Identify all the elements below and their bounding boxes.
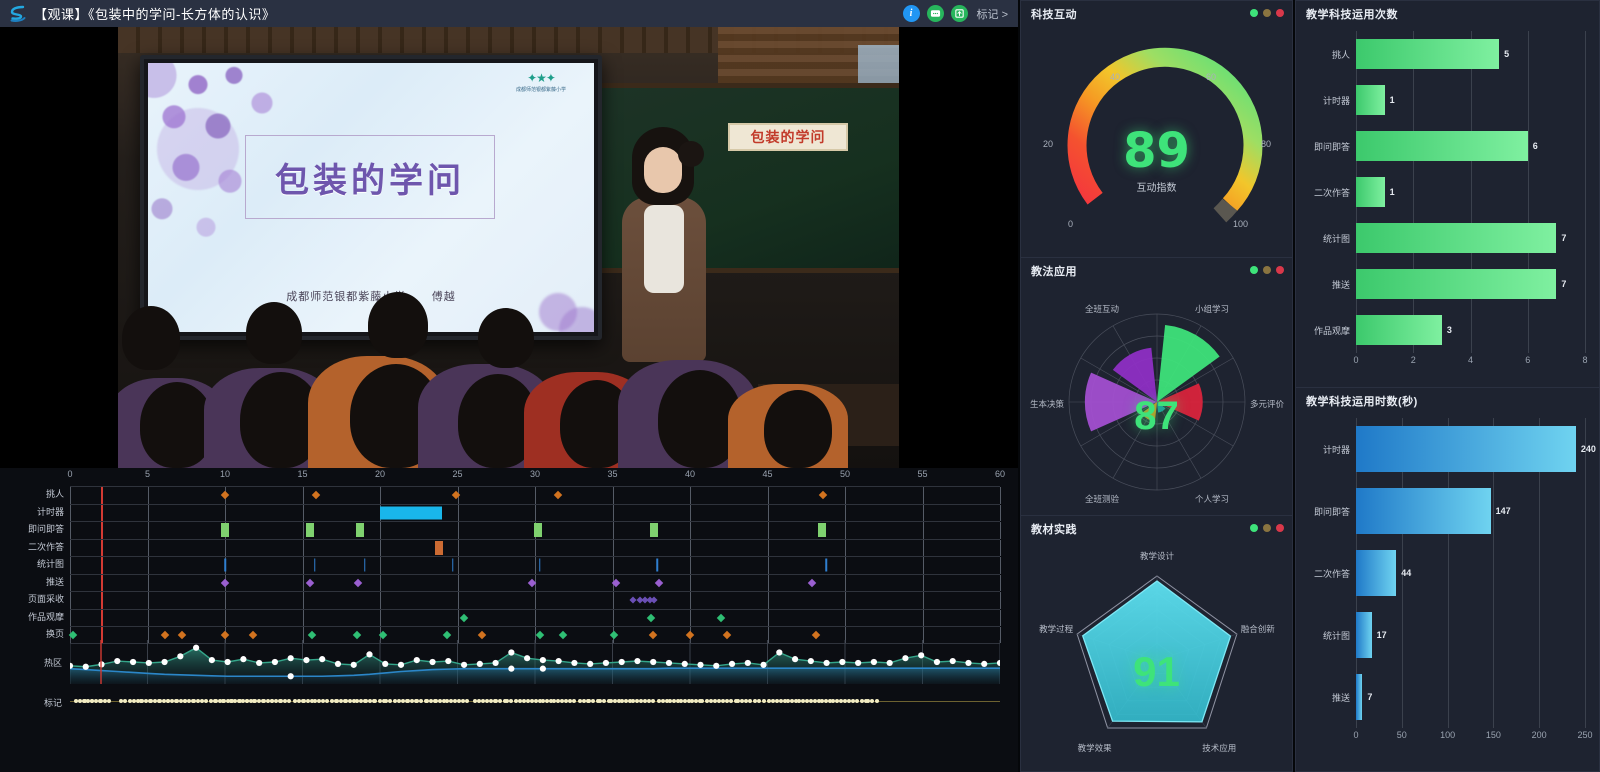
mark-dot[interactable] [651, 699, 655, 703]
timeline-gridline [70, 505, 71, 522]
timeline-gridline [70, 592, 71, 609]
table-row[interactable]: 挑人5 [1304, 31, 1585, 77]
timeline-gridline [225, 540, 226, 557]
bar-label: 即问即答 [1304, 140, 1356, 153]
timeline-event-diamond[interactable] [354, 579, 362, 587]
panel-tech-usage-count: 教学科技运用次数 挑人5计时器1即问即答6二次作答1统计图7推送7作品观摩302… [1295, 0, 1600, 388]
timeline-row[interactable]: 即问即答 [0, 521, 1018, 539]
slide-title: 包装的学问 [275, 153, 465, 202]
timeline-gridline [70, 487, 71, 504]
bar-area: 147 [1356, 480, 1585, 542]
status-dot-red[interactable] [1276, 266, 1284, 274]
timeline-event-diamond[interactable] [554, 491, 562, 499]
bar-gridline [1528, 77, 1529, 123]
timeline-event-diamond[interactable] [811, 631, 819, 639]
timeline-row[interactable]: 页面采收 [0, 591, 1018, 609]
mark-dot[interactable] [572, 699, 576, 703]
bar-axis: 02468 [1304, 353, 1585, 369]
bar-value: 1 [1390, 187, 1395, 197]
timeline-gridline [70, 575, 71, 592]
timeline-row[interactable]: 计时器 [0, 504, 1018, 522]
bar-area: 1 [1356, 77, 1585, 123]
gauge-tick-60: 60 [1206, 72, 1216, 82]
mark-dot[interactable] [107, 699, 111, 703]
axis-tick: 250 [1577, 730, 1592, 740]
bar-gridline [1585, 261, 1586, 307]
bar-gridline [1539, 604, 1540, 666]
timeline-gridline [458, 610, 459, 627]
timeline-gridline [690, 505, 691, 522]
timeline-playhead[interactable] [101, 505, 103, 522]
timeline-tick: 30 [530, 469, 540, 479]
bar-gridline [1585, 77, 1586, 123]
timeline-gridline [303, 610, 304, 627]
dashboard-root: 【观课】《包装中的学问-长方体的认识》 i 标记 > 包装的学问 [0, 0, 1600, 772]
bar-gridline [1471, 169, 1472, 215]
mark-dot[interactable] [875, 699, 879, 703]
gauge-tick-20: 20 [1043, 139, 1053, 149]
panel-title: 科技互动 [1031, 6, 1077, 22]
timeline-gridline [1000, 610, 1001, 627]
timeline-gridline [768, 557, 769, 574]
timeline-gridline [380, 487, 381, 504]
timeline-gridline [458, 557, 459, 574]
timeline-gridline [303, 487, 304, 504]
bar-value: 240 [1581, 444, 1596, 454]
timeline-row[interactable]: 挑人 [0, 486, 1018, 504]
panel-title: 教学科技运用次数 [1306, 6, 1398, 22]
timeline-gridline [303, 522, 304, 539]
timeline-track[interactable] [70, 539, 1000, 557]
timeline-tick: 45 [762, 469, 772, 479]
table-row[interactable]: 二次作答44 [1304, 542, 1585, 604]
timeline-gridline [613, 505, 614, 522]
blackboard-sign: 包装的学问 [728, 123, 848, 151]
timeline-gridline [1000, 557, 1001, 574]
timeline-event-diamond[interactable] [649, 631, 657, 639]
bar[interactable] [1356, 39, 1499, 69]
timeline-playhead[interactable] [101, 592, 103, 609]
rose-body: 87 小组学习多元评价个人学习全班测验生本决策全班互动 [1021, 284, 1292, 514]
timeline-row-label: 页面采收 [2, 592, 64, 605]
timeline-gridline [768, 610, 769, 627]
bar-gridline [1493, 604, 1494, 666]
axis-tick: 100 [1440, 730, 1455, 740]
bar-gridline [1528, 31, 1529, 77]
timeline-gridline [458, 592, 459, 609]
timeline-gridline [923, 540, 924, 557]
rose-axis-label: 全班测验 [1085, 493, 1119, 505]
timeline-gridline [613, 592, 614, 609]
timeline-gridline [768, 592, 769, 609]
status-dot-red[interactable] [1276, 524, 1284, 532]
timeline-gridline [70, 610, 71, 627]
timeline-row-label: 计时器 [2, 505, 64, 518]
left-column: 【观课】《包装中的学问-长方体的认识》 i 标记 > 包装的学问 [0, 0, 1018, 772]
video-frame: 包装的学问 ✦★✦ 成都师范银都紫藤小学 包装的学问 [118, 27, 899, 468]
timeline-row-label: 挑人 [2, 487, 64, 500]
timeline-event-block[interactable] [435, 541, 443, 555]
timeline-event-diamond[interactable] [723, 631, 731, 639]
timeline-gridline [380, 592, 381, 609]
bar-area: 7 [1356, 261, 1585, 307]
bar-gridline [1471, 77, 1472, 123]
panel-title: 教材实践 [1031, 521, 1077, 537]
gauge-label: 互动指数 [1021, 179, 1292, 194]
timeline-tick: 10 [220, 469, 230, 479]
timeline-event-block[interactable] [221, 523, 229, 537]
table-row[interactable]: 统计图17 [1304, 604, 1585, 666]
bar-label: 推送 [1304, 278, 1356, 291]
bar-label: 推送 [1304, 691, 1356, 704]
timeline-gridline [690, 522, 691, 539]
timeline-tick: 50 [840, 469, 850, 479]
bar-value: 7 [1561, 279, 1566, 289]
axis-tick: 200 [1532, 730, 1547, 740]
timeline-track[interactable] [70, 574, 1000, 592]
timeline-event-block[interactable] [818, 523, 826, 537]
timeline-gridline [303, 505, 304, 522]
bar[interactable] [1356, 269, 1556, 299]
bar[interactable] [1356, 315, 1442, 345]
timeline-gridline [923, 592, 924, 609]
gauge-value: 89 [1021, 123, 1292, 179]
bar-area: 17 [1356, 604, 1585, 666]
mark-link[interactable]: 标记 > [977, 6, 1008, 22]
gauge-tick-40: 40 [1110, 72, 1120, 82]
panel-status-dots[interactable] [1250, 9, 1284, 17]
timeline-event-line[interactable] [657, 559, 659, 572]
bar-gridline [1585, 480, 1586, 542]
timeline-tick: 0 [67, 469, 72, 479]
timeline-event-diamond[interactable] [221, 579, 229, 587]
timeline-event-diamond[interactable] [610, 631, 618, 639]
timeline-gridline [923, 557, 924, 574]
bar-gridline [1471, 307, 1472, 353]
mark-dot[interactable] [757, 699, 761, 703]
timeline-event-diamond[interactable] [308, 631, 316, 639]
axis-tick: 0 [1353, 730, 1358, 740]
bar[interactable] [1356, 85, 1385, 115]
timeline-playhead[interactable] [101, 540, 103, 557]
bar-gridline [1413, 169, 1414, 215]
bar-value: 147 [1496, 506, 1511, 516]
timeline-track[interactable] [70, 486, 1000, 504]
timeline-gridline [535, 592, 536, 609]
school-logo: ✦★✦ 成都师范银都紫藤小学 [502, 71, 580, 93]
timeline-event-diamond[interactable] [353, 631, 361, 639]
timeline-row-label: 统计图 [2, 557, 64, 570]
bar-gridline [1528, 169, 1529, 215]
table-row[interactable]: 计时器1 [1304, 77, 1585, 123]
timeline-event-diamond[interactable] [442, 631, 450, 639]
rose-axis-label: 全班互动 [1085, 303, 1119, 315]
timeline-gridline [690, 610, 691, 627]
bar-value: 7 [1561, 233, 1566, 243]
timeline-gridline [613, 557, 614, 574]
timeline-gridline [303, 540, 304, 557]
bar-label: 即问即答 [1304, 505, 1356, 518]
bar[interactable] [1356, 488, 1491, 534]
timeline-gridline [225, 505, 226, 522]
rose-axis-label: 个人学习 [1195, 493, 1229, 505]
timeline-tick: 40 [685, 469, 695, 479]
timeline-event-diamond[interactable] [655, 579, 663, 587]
s-logo-icon [8, 4, 28, 24]
timeline-gridline [768, 505, 769, 522]
bar-area: 5 [1356, 31, 1585, 77]
timeline-tick: 35 [607, 469, 617, 479]
timeline-event-diamond[interactable] [221, 631, 229, 639]
bar-label: 计时器 [1304, 94, 1356, 107]
timeline-event-diamond[interactable] [535, 631, 543, 639]
status-dot-green[interactable] [1250, 9, 1258, 17]
bar-gridline [1585, 169, 1586, 215]
timeline-event-diamond[interactable] [177, 631, 185, 639]
timeline-gridline [225, 610, 226, 627]
bar[interactable] [1356, 550, 1396, 596]
timeline-event-diamond[interactable] [452, 491, 460, 499]
bar-gridline [1539, 480, 1540, 542]
timeline-event-diamond[interactable] [306, 579, 314, 587]
timeline-tick: 55 [917, 469, 927, 479]
timeline-gridline [923, 610, 924, 627]
table-row[interactable]: 统计图7 [1304, 215, 1585, 261]
timeline-event-block[interactable] [306, 523, 314, 537]
timeline-gridline [690, 487, 691, 504]
timeline-row[interactable]: 作品观摩 [0, 609, 1018, 627]
school-logo-text: 成都师范银都紫藤小学 [502, 86, 580, 93]
count-bars[interactable]: 挑人5计时器1即问即答6二次作答1统计图7推送7作品观摩302468 [1304, 31, 1585, 369]
info-icon[interactable]: i [903, 5, 920, 22]
panel-tech-interaction: 科技互动 [1020, 0, 1293, 258]
bar[interactable] [1356, 426, 1576, 472]
timeline-gridline [690, 575, 691, 592]
status-dot-amber[interactable] [1263, 266, 1271, 274]
axis-tick: 150 [1486, 730, 1501, 740]
timeline-event-block[interactable] [534, 523, 542, 537]
timeline-gridline [845, 487, 846, 504]
gauge-body: 89 互动指数 20 0 40 60 80 100 [1021, 27, 1292, 257]
timeline-gridline [148, 610, 149, 627]
status-dot-amber[interactable] [1263, 9, 1271, 17]
timeline-event-diamond[interactable] [647, 614, 655, 622]
panel-header: 科技互动 [1021, 1, 1292, 27]
timeline-event-diamond[interactable] [478, 631, 486, 639]
table-row[interactable]: 作品观摩3 [1304, 307, 1585, 353]
timeline-row[interactable]: 二次作答 [0, 539, 1018, 557]
bar-gridline [1413, 77, 1414, 123]
bar[interactable] [1356, 612, 1372, 658]
bar-gridline [1448, 666, 1449, 728]
timeline-gridline [380, 522, 381, 539]
table-row[interactable]: 即问即答6 [1304, 123, 1585, 169]
timeline-event-line[interactable] [314, 559, 316, 572]
timeline-event-diamond[interactable] [808, 579, 816, 587]
status-dot-green[interactable] [1250, 266, 1258, 274]
bar-area: 6 [1356, 123, 1585, 169]
rose-axis-label: 生本决策 [1030, 398, 1064, 410]
timeline-event-diamond[interactable] [221, 491, 229, 499]
hotzone-chart[interactable] [70, 640, 1000, 684]
bar[interactable] [1356, 674, 1362, 720]
comment-icon[interactable] [927, 5, 944, 22]
status-dot-red[interactable] [1276, 9, 1284, 17]
timeline-gridline [1000, 592, 1001, 609]
panel-status-dots[interactable] [1250, 266, 1284, 274]
timeline-gridline [303, 575, 304, 592]
bar-value: 7 [1367, 692, 1372, 702]
bar-area: 1 [1356, 169, 1585, 215]
panel-tech-usage-seconds: 教学科技运用时数(秒) 计时器240即问即答147二次作答44统计图17推送70… [1295, 388, 1600, 772]
panel-header: 教学科技运用时数(秒) [1296, 388, 1599, 414]
bar[interactable] [1356, 131, 1528, 161]
timeline-gridline [458, 522, 459, 539]
panel-teaching-methods: 教法应用 87 小组学习多元评价个人学习全班测验生本决策全班互动 [1020, 258, 1293, 516]
timeline-row[interactable]: 推送 [0, 574, 1018, 592]
timeline-event-diamond[interactable] [629, 597, 636, 604]
timeline-gridline [148, 540, 149, 557]
right-column: 教学科技运用次数 挑人5计时器1即问即答6二次作答1统计图7推送7作品观摩302… [1295, 0, 1600, 772]
timeline-row-label: 即问即答 [2, 522, 64, 535]
page-title: 【观课】《包装中的学问-长方体的认识》 [34, 4, 275, 23]
panel-status-dots[interactable] [1250, 524, 1284, 532]
timeline-event-line[interactable] [364, 559, 366, 572]
timeline-gridline [768, 575, 769, 592]
bar-label: 作品观摩 [1304, 324, 1356, 337]
timeline-gridline [380, 557, 381, 574]
timeline-gridline [458, 540, 459, 557]
timeline-tick: 60 [995, 469, 1005, 479]
timeline-row-label: 换页 [2, 627, 64, 640]
bar-gridline [1448, 604, 1449, 666]
bar-label: 统计图 [1304, 232, 1356, 245]
table-row[interactable]: 推送7 [1304, 261, 1585, 307]
timeline-event-diamond[interactable] [459, 614, 467, 622]
bar-area: 240 [1356, 418, 1585, 480]
bar-gridline [1585, 307, 1586, 353]
timeline-panel[interactable]: 051015202530354045505560 挑人计时器即问即答二次作答统计… [0, 468, 1018, 772]
timeline-gridline [380, 575, 381, 592]
upload-icon[interactable] [951, 5, 968, 22]
table-row[interactable]: 即问即答147 [1304, 480, 1585, 542]
timeline-event-diamond[interactable] [559, 631, 567, 639]
timeline-event-diamond[interactable] [717, 614, 725, 622]
timeline-gridline [148, 557, 149, 574]
timeline-bottom: 热区 标记 [0, 640, 1018, 720]
timeline-track[interactable] [70, 556, 1000, 574]
timeline-event-line[interactable] [224, 559, 226, 572]
timeline-track[interactable] [70, 504, 1000, 522]
hotzone-label: 热区 [0, 656, 62, 669]
timeline-event-diamond[interactable] [686, 631, 694, 639]
mark-dot[interactable] [465, 699, 469, 703]
timeline-event-diamond[interactable] [819, 491, 827, 499]
timeline-playhead[interactable] [101, 610, 103, 627]
timeline-track[interactable] [70, 591, 1000, 609]
timeline-event-range[interactable] [380, 506, 442, 519]
timeline-gridline [1000, 575, 1001, 592]
bar-value: 17 [1377, 630, 1387, 640]
timeline-track[interactable] [70, 521, 1000, 539]
timeline-event-diamond[interactable] [651, 597, 658, 604]
timeline-gridline [768, 522, 769, 539]
timeline-track[interactable] [70, 609, 1000, 627]
bar-label: 计时器 [1304, 443, 1356, 456]
status-dot-amber[interactable] [1263, 524, 1271, 532]
timeline-playhead[interactable] [101, 487, 103, 504]
timeline-event-line[interactable] [826, 559, 828, 572]
timeline-gridline [845, 522, 846, 539]
timeline-rows[interactable]: 挑人计时器即问即答二次作答统计图推送页面采收作品观摩换页 [0, 486, 1018, 636]
timeline-playhead[interactable] [101, 575, 103, 592]
timeline-gridline [70, 522, 71, 539]
status-dot-green[interactable] [1250, 524, 1258, 532]
timeline-gridline [845, 540, 846, 557]
bar-value: 1 [1390, 95, 1395, 105]
timeline-gridline [70, 557, 71, 574]
timeline-gridline [690, 557, 691, 574]
count-chart-body: 挑人5计时器1即问即答6二次作答1统计图7推送7作品观摩302468 [1296, 27, 1599, 385]
bar-value: 6 [1533, 141, 1538, 151]
timeline-tick: 25 [452, 469, 462, 479]
timeline-gridline [70, 540, 71, 557]
table-row[interactable]: 二次作答1 [1304, 169, 1585, 215]
timeline-event-block[interactable] [356, 523, 364, 537]
bar[interactable] [1356, 223, 1556, 253]
panel-title: 教法应用 [1031, 263, 1077, 279]
timeline-event-line[interactable] [452, 559, 454, 572]
timeline-gridline [148, 505, 149, 522]
timeline-gridline [768, 487, 769, 504]
timeline-event-diamond[interactable] [312, 491, 320, 499]
radar-axis-label: 教学设计 [1140, 550, 1174, 562]
marks-label: 标记 [0, 696, 62, 709]
timeline-gridline [1000, 540, 1001, 557]
bar-gridline [1448, 542, 1449, 604]
timeline-playhead[interactable] [101, 557, 103, 574]
timeline-tick: 5 [145, 469, 150, 479]
bar-label: 统计图 [1304, 629, 1356, 642]
timeline-event-line[interactable] [539, 559, 541, 572]
bar-gridline [1493, 480, 1494, 542]
timeline-event-diamond[interactable] [249, 631, 257, 639]
timeline-event-block[interactable] [650, 523, 658, 537]
timeline-gridline [845, 557, 846, 574]
timeline-gridline [923, 487, 924, 504]
timeline-gridline [535, 540, 536, 557]
header-actions: i 标记 > [903, 5, 1010, 22]
bar[interactable] [1356, 177, 1385, 207]
mark-dot[interactable] [287, 699, 291, 703]
timeline-gridline [535, 505, 536, 522]
timeline-gridline [690, 592, 691, 609]
radar-axis-label: 教学过程 [1039, 623, 1073, 635]
seconds-bars[interactable]: 计时器240即问即答147二次作答44统计图17推送70501001502002… [1304, 418, 1585, 744]
timeline-row[interactable]: 统计图 [0, 556, 1018, 574]
timeline-playhead[interactable] [101, 522, 103, 539]
timeline-gridline [303, 557, 304, 574]
table-row[interactable]: 计时器240 [1304, 418, 1585, 480]
marks-track[interactable] [70, 690, 1000, 712]
timeline-gridline [613, 540, 614, 557]
table-row[interactable]: 推送7 [1304, 666, 1585, 728]
timeline-event-diamond[interactable] [160, 631, 168, 639]
bar-gridline [1493, 542, 1494, 604]
timeline-gridline [613, 487, 614, 504]
timeline-gridline [923, 505, 924, 522]
video-player[interactable]: 包装的学问 ✦★✦ 成都师范银都紫藤小学 包装的学问 [0, 27, 1018, 468]
